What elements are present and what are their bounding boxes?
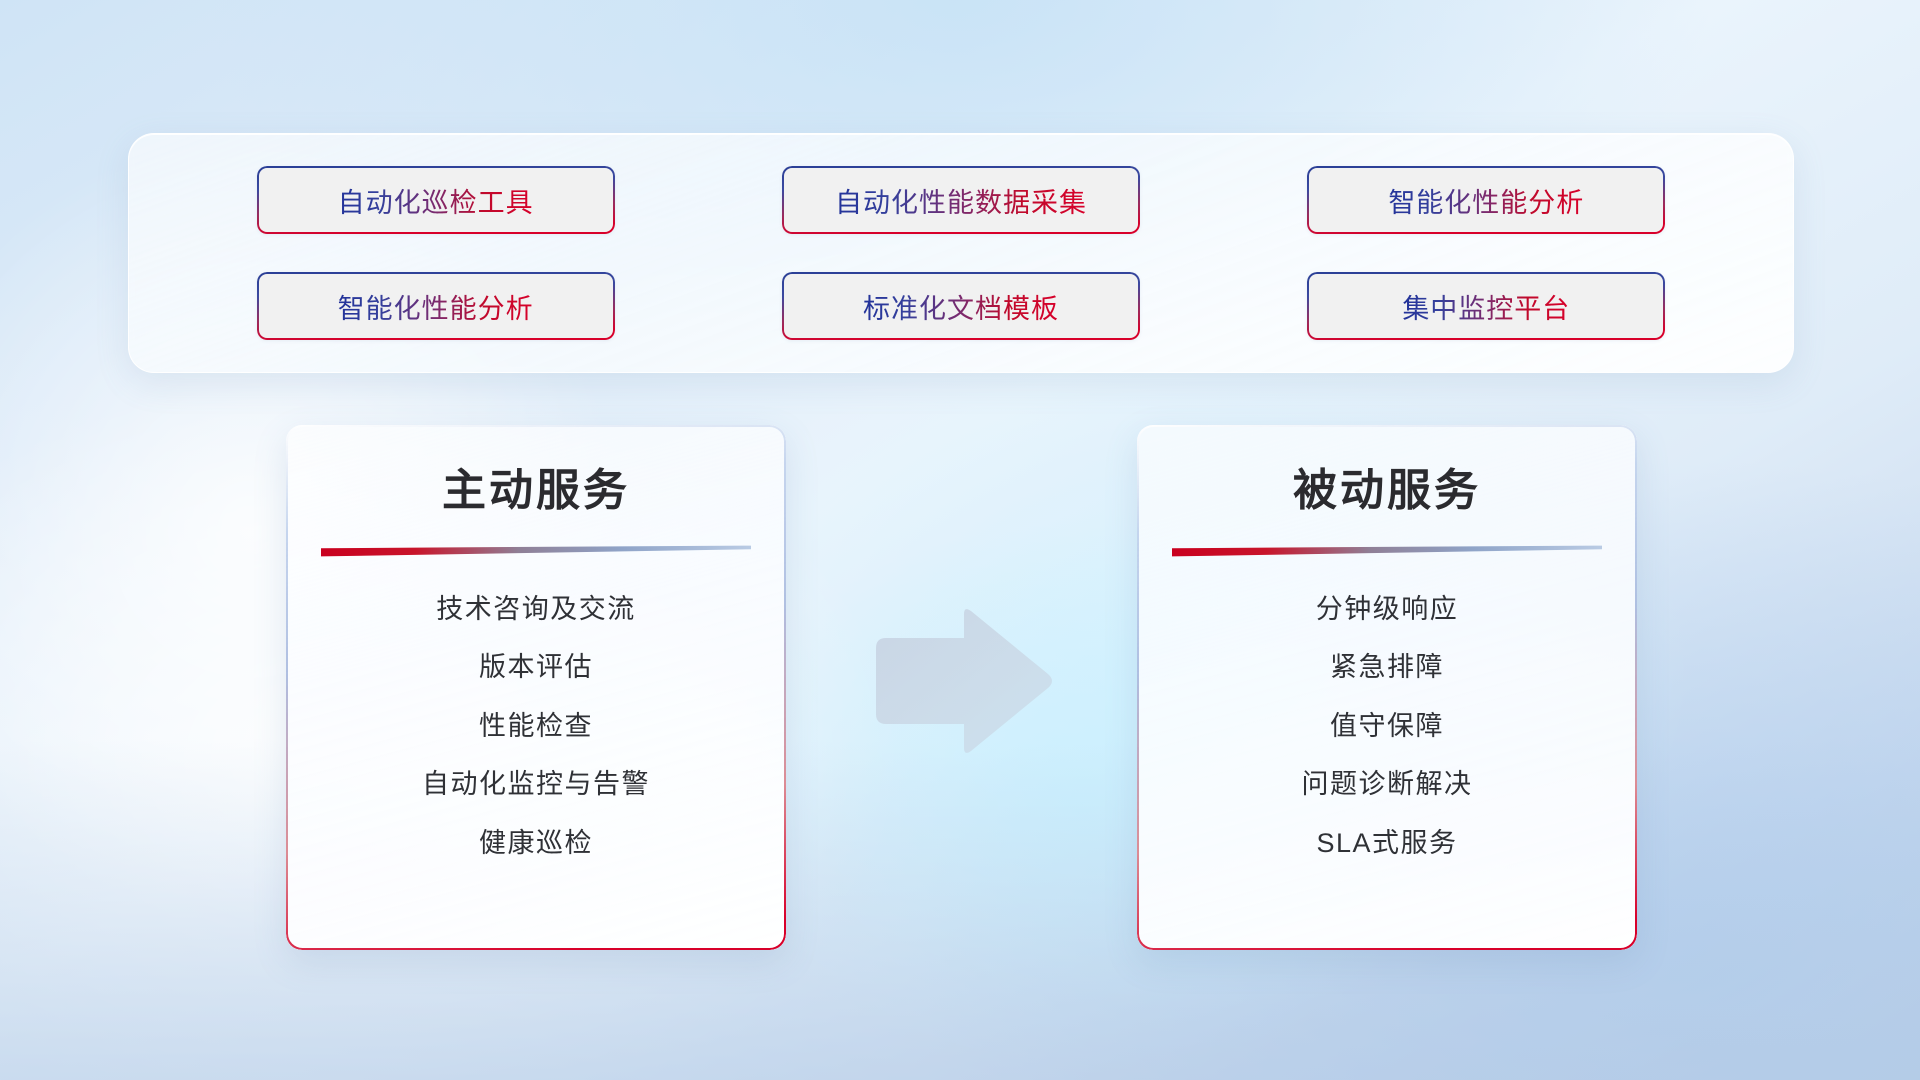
capability-pill-3[interactable]: 智能化性能分析 xyxy=(1307,166,1665,234)
card-list-item: 自动化监控与告警 xyxy=(422,768,650,800)
service-card-reactive: 被动服务 分钟级响应 紧急排障 值守保障 问题诊断解决 xyxy=(1137,425,1637,950)
capability-pill-4[interactable]: 智能化性能分析 xyxy=(257,272,615,340)
service-card-proactive: 主动服务 技术咨询及交流 版本评估 性能检查 自动化监控与告警 xyxy=(286,425,786,950)
card-list-item: 分钟级响应 xyxy=(1316,593,1459,625)
card-item-list-reactive: 分钟级响应 紧急排障 值守保障 问题诊断解决 SLA式服务 xyxy=(1163,593,1611,859)
card-list-item: 技术咨询及交流 xyxy=(436,593,636,625)
card-list-item: 紧急排障 xyxy=(1330,651,1444,683)
capability-pill-1[interactable]: 自动化巡检工具 xyxy=(257,166,615,234)
card-title: 主动服务 xyxy=(442,469,630,513)
capability-pill-label: 智能化性能分析 xyxy=(338,287,534,326)
capability-pill-label: 集中监控平台 xyxy=(1402,287,1570,326)
card-list-item: 健康巡检 xyxy=(479,827,593,859)
capability-pill-2[interactable]: 自动化性能数据采集 xyxy=(782,166,1140,234)
card-list-item: 性能检查 xyxy=(479,710,593,742)
right-arrow-icon xyxy=(868,604,1058,764)
card-item-list-proactive: 技术咨询及交流 版本评估 性能检查 自动化监控与告警 健康巡检 xyxy=(312,593,760,859)
diagram-canvas: 自动化巡检工具 自动化性能数据采集 智能化性能分析 智能化性能分析 标准化文档模… xyxy=(0,0,1920,1080)
card-list-item: 版本评估 xyxy=(479,651,593,683)
card-title: 被动服务 xyxy=(1293,469,1481,513)
capability-pill-label: 自动化性能数据采集 xyxy=(835,181,1087,220)
card-list-item: 值守保障 xyxy=(1330,710,1444,742)
capability-pill-5[interactable]: 标准化文档模板 xyxy=(782,272,1140,340)
card-divider-accent xyxy=(1172,545,1602,559)
capability-pill-label: 自动化巡检工具 xyxy=(338,181,534,220)
card-list-item: SLA式服务 xyxy=(1316,827,1457,859)
card-divider-accent xyxy=(321,545,751,559)
capability-pill-label: 标准化文档模板 xyxy=(863,287,1059,326)
capability-pill-6[interactable]: 集中监控平台 xyxy=(1307,272,1665,340)
capability-pill-label: 智能化性能分析 xyxy=(1388,181,1584,220)
card-list-item: 问题诊断解决 xyxy=(1302,768,1473,800)
capability-panel: 自动化巡检工具 自动化性能数据采集 智能化性能分析 智能化性能分析 标准化文档模… xyxy=(128,133,1794,373)
